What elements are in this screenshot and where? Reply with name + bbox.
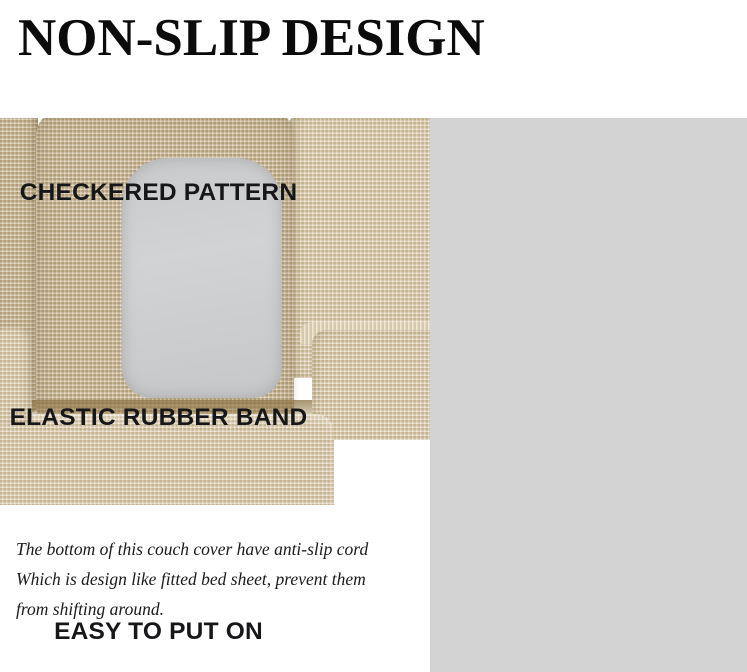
- caption-line-2: Which is design like fitted bed sheet, p…: [16, 564, 420, 594]
- description-caption: The bottom of this couch cover have anti…: [16, 534, 420, 624]
- feature-label-easy: EASY TO PUT ON: [0, 618, 317, 646]
- infographic-page: The bottom of this couch cover have anti…: [0, 0, 747, 672]
- features-panel: [430, 118, 747, 672]
- feature-label-elastic: ELASTIC RUBBER BAND: [0, 404, 317, 432]
- page-title: NON-SLIP DESIGN: [18, 7, 485, 69]
- header-band: NON-SLIP DESIGN: [0, 0, 747, 118]
- couch-back-center-cover: [36, 110, 294, 422]
- feature-label-checkered: CHECKERED PATTERN: [0, 179, 317, 207]
- couch-cover-photo: [0, 100, 430, 505]
- caption-line-1: The bottom of this couch cover have anti…: [16, 534, 420, 564]
